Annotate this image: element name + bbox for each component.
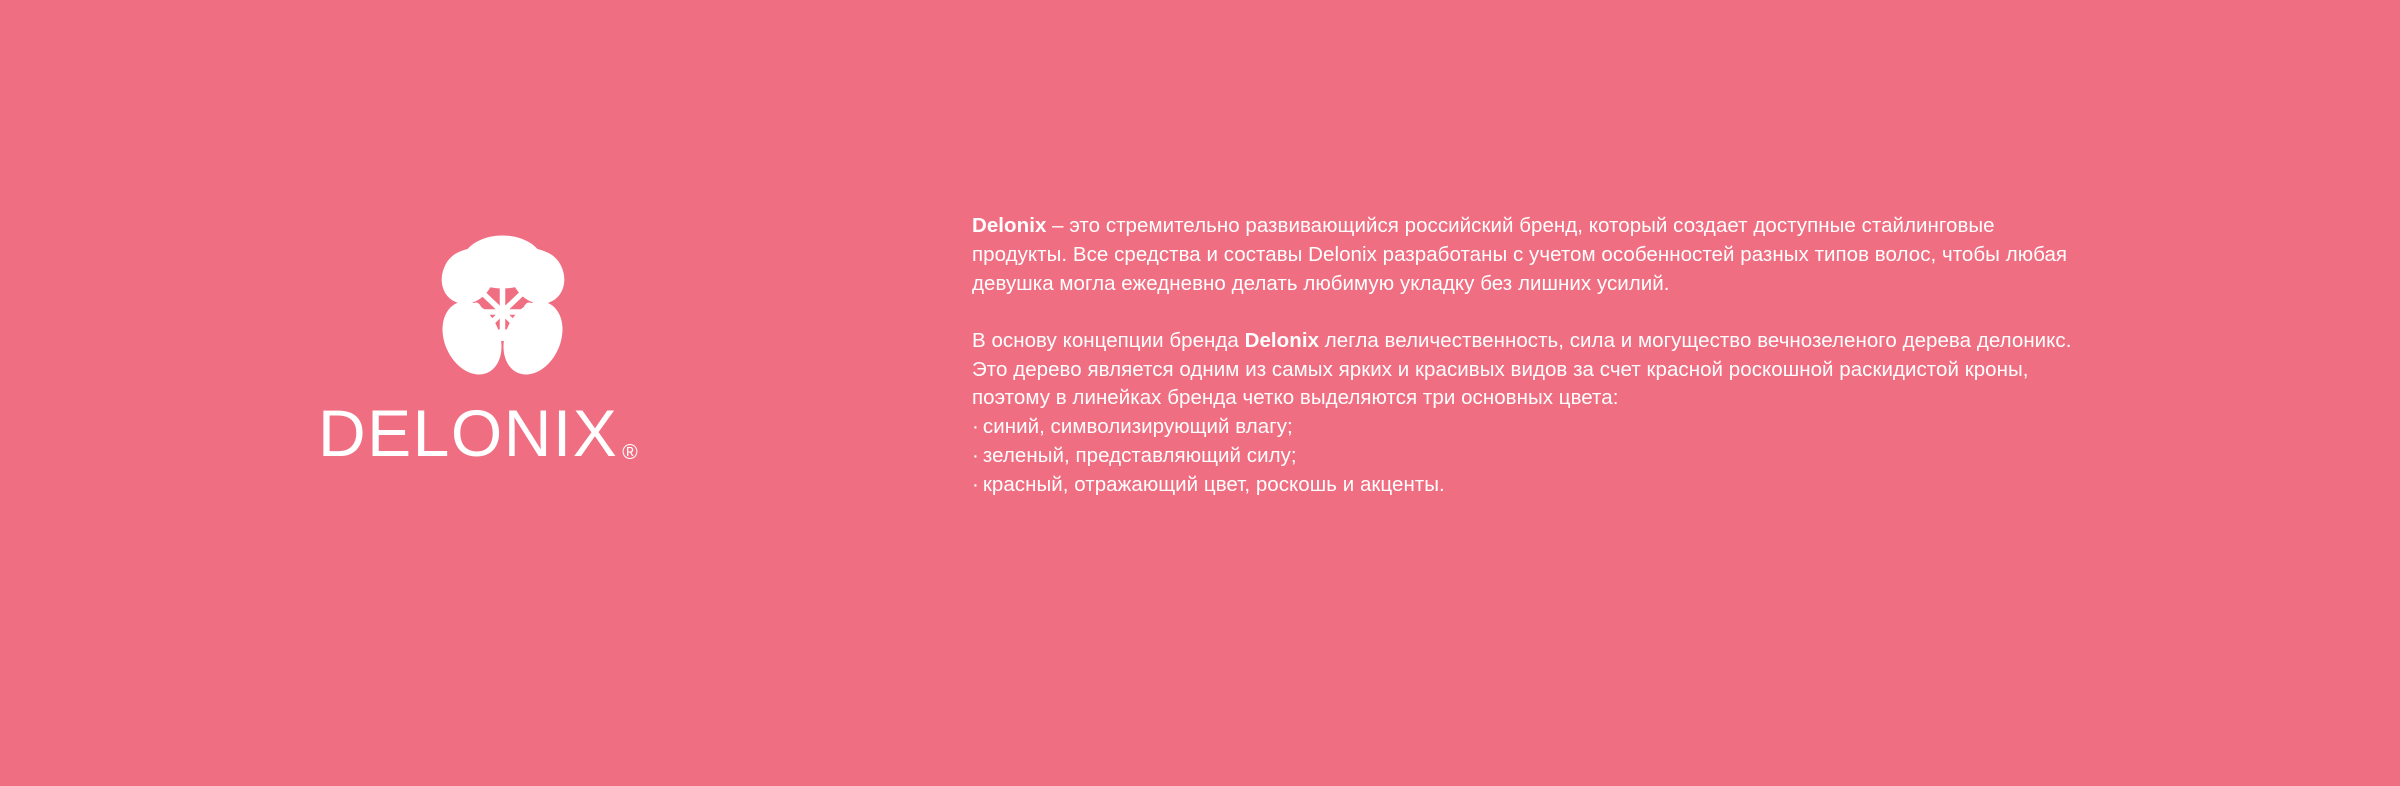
brand-wordmark: DELONIX ® <box>318 400 638 466</box>
paragraph-concept: В основу концепции бренда Delonix легла … <box>972 327 2092 413</box>
list-item-label: красный, отражающий цвет, роскошь и акце… <box>983 473 1445 496</box>
paragraph-intro-body: – это стремительно развивающийся российс… <box>972 214 2067 295</box>
bullet-icon: · <box>972 413 979 442</box>
bullet-icon: · <box>972 442 979 471</box>
brand-description-panel: DELONIX ® Delonix – это стремительно раз… <box>0 0 2400 786</box>
brand-wordmark-text: DELONIX <box>318 400 618 466</box>
list-item-label: зеленый, представляющий силу; <box>983 444 1297 467</box>
list-item: ·красный, отражающий цвет, роскошь и акц… <box>972 471 2092 500</box>
brand-color-list: ·синий, символизирующий влагу; ·зеленый,… <box>972 413 2092 499</box>
list-item: ·зеленый, представляющий силу; <box>972 442 2092 471</box>
bullet-icon: · <box>972 471 979 500</box>
registered-trademark-icon: ® <box>622 442 637 463</box>
paragraph-intro: Delonix – это стремительно развивающийся… <box>972 212 2092 298</box>
brand-copy: Delonix – это стремительно развивающийся… <box>972 212 2092 500</box>
list-item: ·синий, символизирующий влагу; <box>972 413 2092 442</box>
list-item-label: синий, символизирующий влагу; <box>983 415 1293 438</box>
paragraph-concept-emphasis: Delonix <box>1245 329 1319 352</box>
delonix-flower-mark-icon <box>425 225 580 380</box>
brand-lockup: DELONIX ® <box>300 225 760 495</box>
paragraph-intro-lead: Delonix <box>972 214 1046 237</box>
paragraph-concept-before: В основу концепции бренда <box>972 329 1245 352</box>
